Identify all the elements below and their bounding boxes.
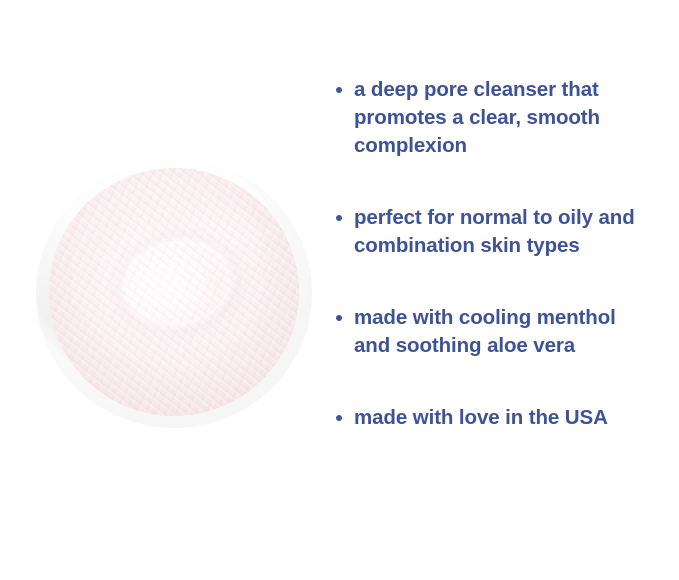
bullet-dot-icon bbox=[336, 415, 342, 421]
powder-inner-shadow bbox=[49, 168, 299, 416]
bullet-dot-icon bbox=[336, 87, 342, 93]
feature-text: perfect for normal to oily and combinati… bbox=[354, 204, 679, 260]
product-feature-panel: a deep pore cleanser that promotes a cle… bbox=[0, 0, 679, 580]
product-image bbox=[36, 158, 312, 428]
list-item: perfect for normal to oily and combinati… bbox=[336, 204, 679, 260]
bullet-dot-icon bbox=[336, 215, 342, 221]
feature-text: made with love in the USA bbox=[354, 404, 679, 432]
feature-list: a deep pore cleanser that promotes a cle… bbox=[336, 76, 679, 432]
list-item: a deep pore cleanser that promotes a cle… bbox=[336, 76, 679, 160]
list-item: made with love in the USA bbox=[336, 404, 679, 432]
powder-jar bbox=[36, 158, 312, 428]
list-item: made with cooling menthol and soothing a… bbox=[336, 304, 679, 360]
powder-surface bbox=[49, 168, 299, 416]
bullet-dot-icon bbox=[336, 315, 342, 321]
feature-text: a deep pore cleanser that promotes a cle… bbox=[354, 76, 679, 160]
feature-text: made with cooling menthol and soothing a… bbox=[354, 304, 679, 360]
